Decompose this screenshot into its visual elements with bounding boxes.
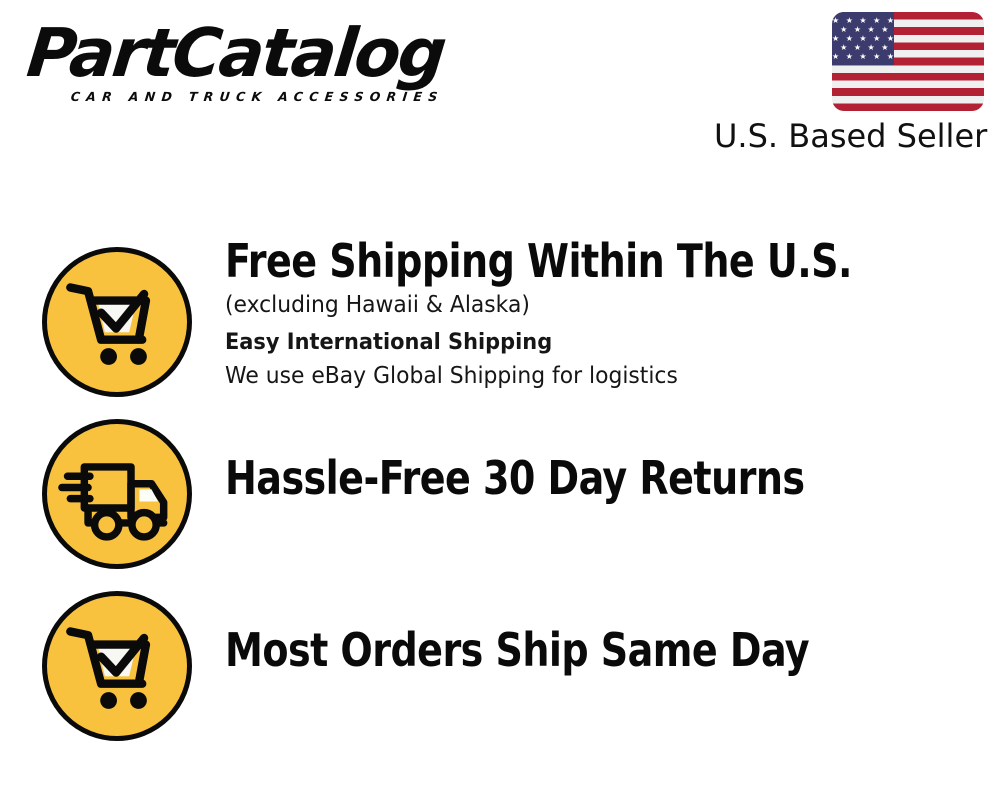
feature-subnote: (excluding Hawaii & Alaska) bbox=[225, 288, 946, 320]
us-based-seller-block: ★ ★ ★ ★ ★ ★ ★ ★ ★ ★ ★ ★ ★ ★ ★ ★ ★ ★ ★ ★ … bbox=[714, 12, 986, 155]
flag-star-row-e: ★ ★ ★ ★ ★ bbox=[832, 52, 896, 61]
feature-row: Free Shipping Within The U.S. (excluding… bbox=[0, 228, 1000, 400]
delivery-truck-icon bbox=[42, 419, 192, 569]
feature-text: Hassle-Free 30 Day Returns bbox=[192, 400, 1000, 505]
shopping-cart-check-icon bbox=[42, 591, 192, 741]
flag-star-row-d: ★ ★ ★ ★ bbox=[836, 43, 891, 52]
flag-stars: ★ ★ ★ ★ ★ ★ ★ ★ ★ ★ ★ ★ ★ ★ ★ ★ ★ ★ ★ ★ … bbox=[832, 12, 894, 65]
feature-heading: Free Shipping Within The U.S. bbox=[225, 234, 938, 288]
feature-heading: Most Orders Ship Same Day bbox=[225, 623, 938, 677]
promo-banner: PartCatalog CAR AND TRUCK ACCESSORIES ★ … bbox=[0, 0, 1000, 800]
flag-star-row-c: ★ ★ ★ ★ ★ bbox=[832, 34, 896, 43]
feature-list: Free Shipping Within The U.S. (excluding… bbox=[0, 228, 1000, 744]
feature-row: Hassle-Free 30 Day Returns bbox=[0, 400, 1000, 572]
feature-text: Most Orders Ship Same Day bbox=[192, 572, 1000, 677]
us-flag-icon: ★ ★ ★ ★ ★ ★ ★ ★ ★ ★ ★ ★ ★ ★ ★ ★ ★ ★ ★ ★ … bbox=[832, 12, 984, 111]
flag-star-row-a: ★ ★ ★ ★ ★ bbox=[832, 16, 896, 25]
us-based-seller-label: U.S. Based Seller bbox=[714, 117, 984, 155]
feature-subtext-ebay-global: We use eBay Global Shipping for logistic… bbox=[225, 359, 946, 391]
feature-subheading-international: Easy International Shipping bbox=[225, 326, 946, 359]
flag-star-row-b: ★ ★ ★ ★ bbox=[836, 25, 891, 34]
shopping-cart-check-icon bbox=[42, 247, 192, 397]
brand-tagline: CAR AND TRUCK ACCESSORIES bbox=[70, 89, 496, 104]
brand-logo: PartCatalog CAR AND TRUCK ACCESSORIES bbox=[24, 18, 494, 113]
brand-wordmark: PartCatalog bbox=[24, 18, 501, 88]
feature-row: Most Orders Ship Same Day bbox=[0, 572, 1000, 744]
feature-text: Free Shipping Within The U.S. (excluding… bbox=[192, 228, 1000, 391]
feature-heading: Hassle-Free 30 Day Returns bbox=[225, 451, 938, 505]
